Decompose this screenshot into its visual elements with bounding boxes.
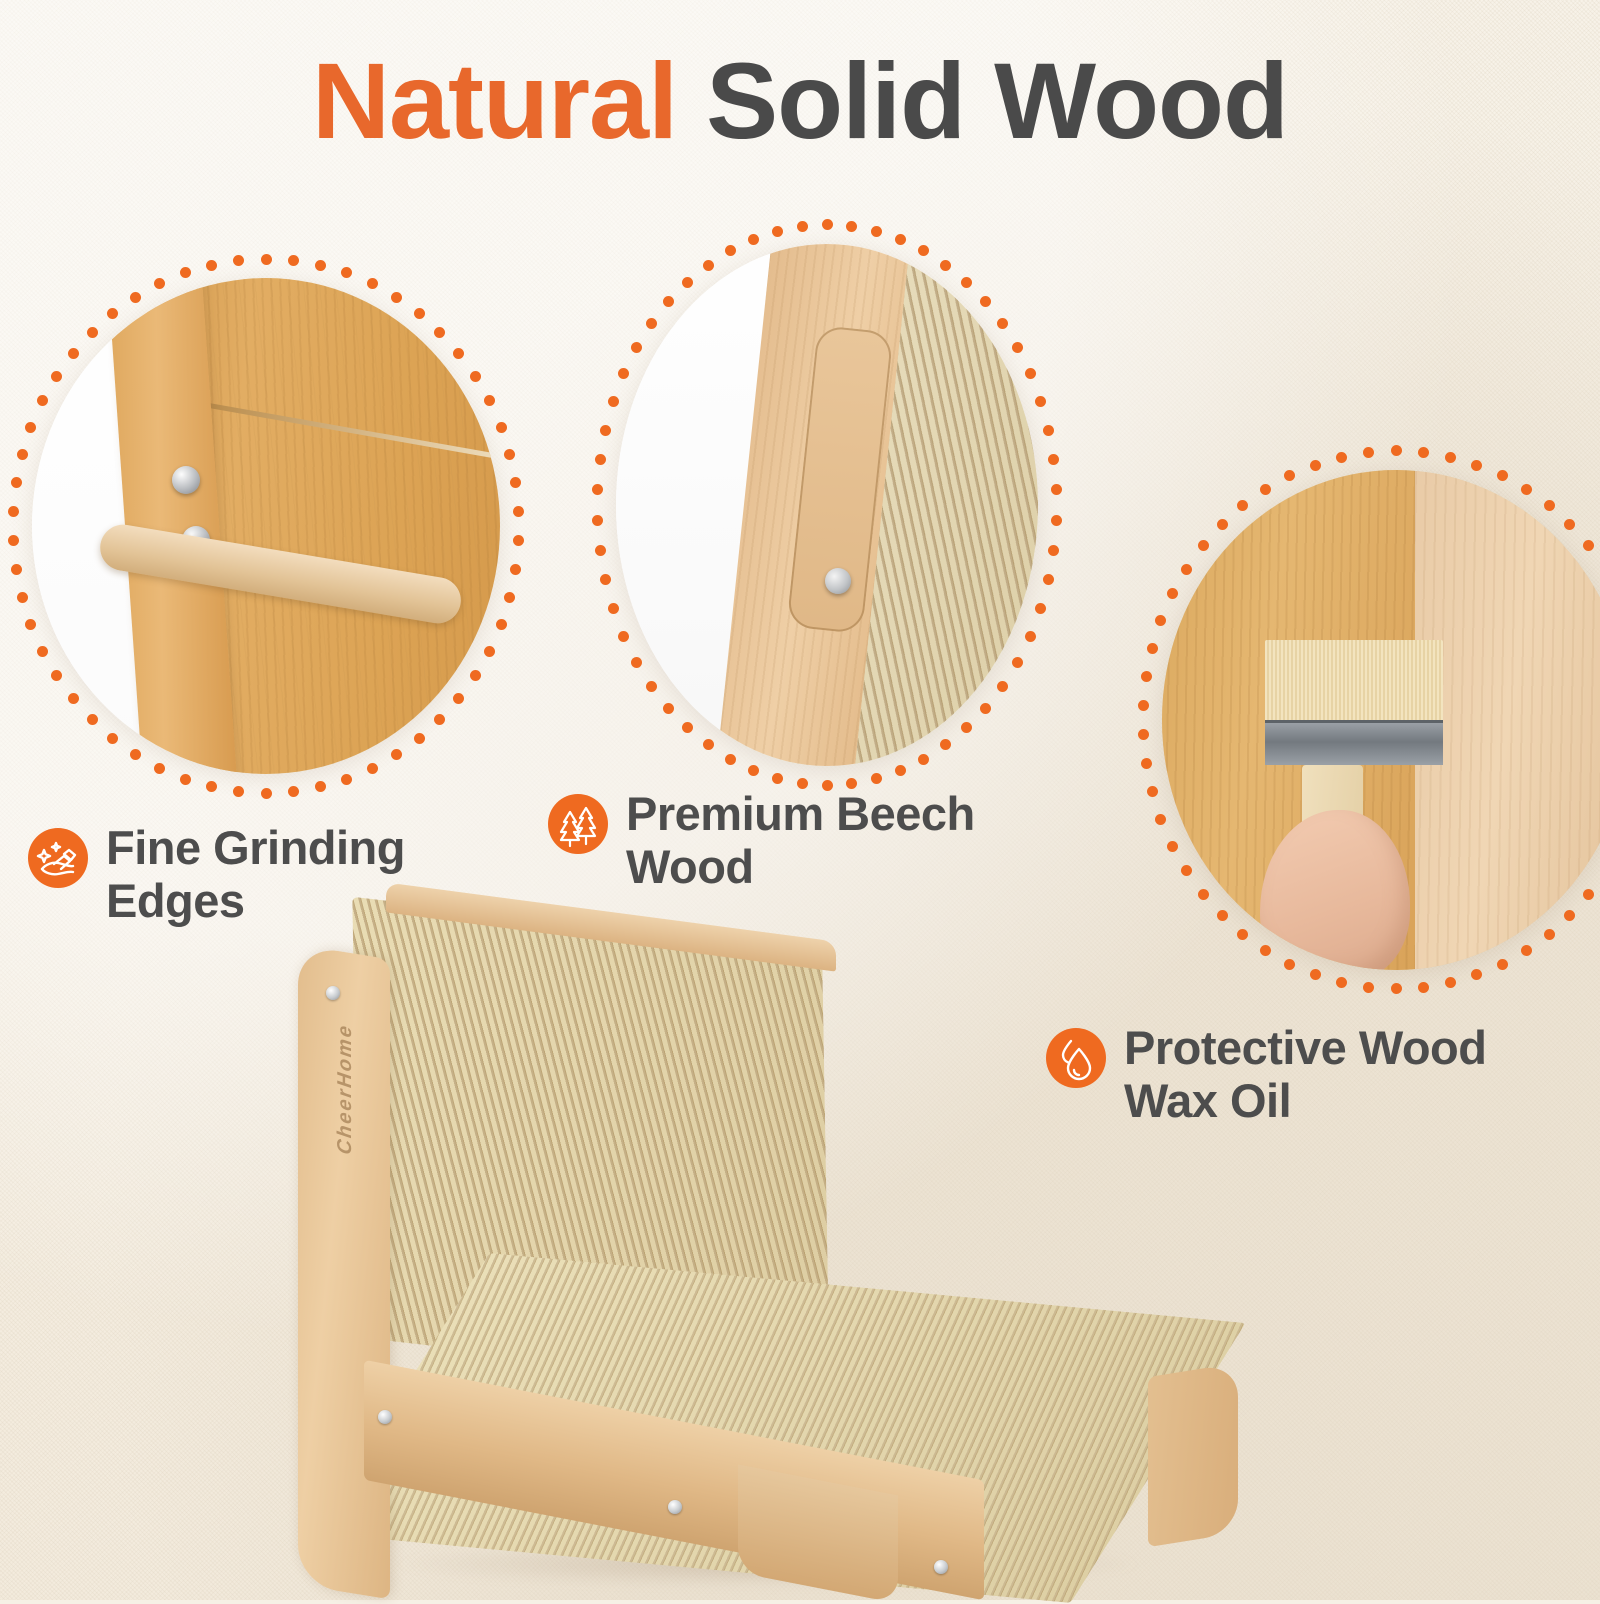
title-word-solid-wood: Solid Wood (706, 40, 1288, 161)
product-side-panel: CheerHome (298, 945, 390, 1600)
screw-icon (934, 1560, 948, 1574)
photo-beech-frame (616, 244, 1038, 766)
feature-premium-beech-wood: Premium Beech Wood (548, 788, 1088, 893)
polishing-hand-sparkle-icon (28, 828, 88, 888)
pine-trees-icon (548, 794, 608, 854)
brush-bristles-icon (1265, 640, 1443, 720)
photo-wax-oil-brush (1162, 470, 1600, 970)
screw-icon (326, 986, 340, 1000)
screw-icon (378, 1410, 392, 1424)
title-word-natural: Natural (312, 40, 677, 161)
feature-label: Fine Grinding Edges (106, 822, 405, 927)
feature-fine-grinding-edges: Fine Grinding Edges (28, 822, 548, 927)
product-brand-engraving: CheerHome (334, 1020, 357, 1158)
feature-photo-premium-beech-wood (590, 218, 1064, 792)
screw-icon (825, 568, 851, 594)
feature-protective-wood-wax-oil: Protective Wood Wax Oil (1046, 1022, 1600, 1127)
page-title: Natural Solid Wood (0, 46, 1600, 156)
screw-icon (668, 1500, 682, 1514)
product-photo-cat-scratcher: CheerHome (268, 900, 1278, 1600)
product-end-cap (1148, 1363, 1238, 1547)
feature-label: Protective Wood Wax Oil (1124, 1022, 1486, 1127)
oil-droplets-icon (1046, 1028, 1106, 1088)
brush-ferrule-icon (1265, 720, 1443, 765)
photo-edge-detail (32, 278, 500, 774)
feature-photo-fine-grinding-edges (6, 252, 526, 800)
feature-label: Premium Beech Wood (626, 788, 975, 893)
